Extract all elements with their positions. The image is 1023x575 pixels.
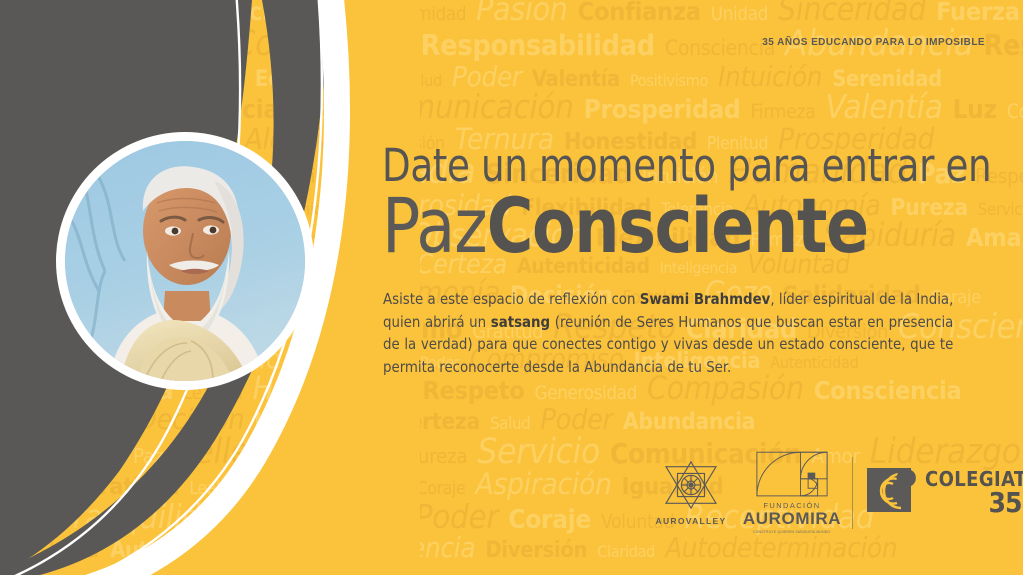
logo-divider <box>852 457 853 529</box>
logo-aurovalley: AUROVALLEY <box>648 459 734 526</box>
word-cloud-word: Intuición <box>713 63 827 90</box>
colegiatura-number: 35 <box>988 490 1021 515</box>
page-title: Date un momento para entrar en PazConsci… <box>382 143 982 262</box>
colegiatura-mark-icon <box>867 468 919 518</box>
word-cloud-word: Confianza <box>573 0 706 25</box>
avatar <box>56 132 314 390</box>
aurovalley-symbol-icon <box>662 459 720 511</box>
word-cloud-word: Sinceridad <box>773 0 931 25</box>
word-cloud-word: Claridad <box>592 544 660 560</box>
body-description: Asiste a este espacio de reflexión con S… <box>383 288 953 378</box>
promotional-banner: ConfianzaSeguridadPacienciaMagnanimidadP… <box>0 0 1023 575</box>
portrait-photo <box>65 141 305 381</box>
body-bold-satsang: satsang <box>491 313 550 331</box>
word-cloud-word: Coraje <box>503 508 596 533</box>
golden-spiral-icon <box>755 451 829 499</box>
body-part-1: Asiste a este espacio de reflexión con <box>383 290 640 308</box>
word-cloud-word: Prosperidad <box>579 98 746 123</box>
word-cloud-word: Coherencia <box>1002 103 1023 122</box>
headline-word-paz: Paz <box>382 181 487 270</box>
colegiatura-text: COLEGIATURA 35 años <box>925 469 1023 515</box>
word-cloud-word: Poder <box>535 405 617 433</box>
word-cloud-word: Luz <box>948 98 1002 123</box>
word-cloud-word: Pasión <box>471 0 572 25</box>
headline-line-2: PazConsciente <box>382 190 940 262</box>
word-cloud-word: Valentía <box>821 91 948 123</box>
headline-word-consciente: Consciente <box>487 181 868 270</box>
body-bold-swami: Swami Brahmdev <box>640 290 771 308</box>
logo-strip: AUROVALLEY FUNDACIÓN AUROMIRA CONSTRUYE <box>648 455 1023 530</box>
word-cloud-word: Poder <box>447 63 527 90</box>
word-cloud-word: Fuerza <box>931 0 1023 25</box>
auromira-line-3: CONSTRUYE QUIEREN SABIDURÍA MUNDO <box>753 530 830 534</box>
word-cloud-word: Generosidad <box>530 385 642 403</box>
word-cloud-word: Salud <box>485 415 535 431</box>
word-cloud-word: Positivismo <box>625 73 713 89</box>
logo-auromira: FUNDACIÓN AUROMIRA CONSTRUYE QUIEREN SAB… <box>746 451 838 534</box>
word-cloud-word: Respeto <box>978 31 1023 59</box>
word-cloud-word: Aspiración <box>470 470 616 499</box>
word-cloud-word: Diversión <box>480 540 592 561</box>
logo-colegiatura: COLEGIATURA 35 años <box>867 468 1023 518</box>
auromira-line-2: AUROMIRA <box>743 510 841 527</box>
aurovalley-label: AUROVALLEY <box>656 516 727 526</box>
word-cloud-word: Abundancia <box>618 411 760 433</box>
word-cloud-word: Autodeterminación <box>660 534 902 561</box>
word-cloud-word: Unidad <box>706 6 773 24</box>
word-cloud-word: Respeto <box>417 379 529 404</box>
tagline: 35 AÑOS EDUCANDO PARA LO IMPOSIBLE <box>762 37 985 48</box>
word-cloud-word: Responsabilidad <box>416 31 660 59</box>
word-cloud-word: Servicio <box>472 435 605 469</box>
word-cloud-word: Consciencia <box>809 379 967 404</box>
word-cloud-word: Firmeza <box>745 103 820 122</box>
